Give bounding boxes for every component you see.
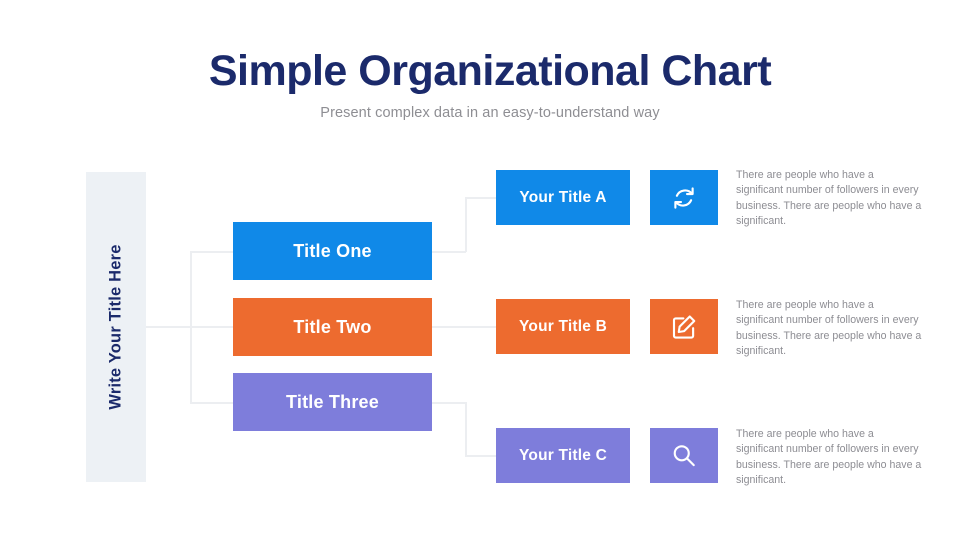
node-title-two[interactable]: Title Two [233,298,432,356]
refresh-sync-icon [669,183,699,213]
description-a: There are people who have a significant … [736,168,922,229]
search-magnifier-icon [669,441,699,471]
description-c: There are people who have a significant … [736,427,922,488]
description-b: There are people who have a significant … [736,298,922,359]
edit-square-pencil-icon [669,312,699,342]
page-title: Simple Organizational Chart [0,48,980,94]
node-title-two-label: Title Two [293,317,371,338]
icon-tile-c[interactable] [650,428,718,483]
side-title-panel-label: Write Your Title Here [107,244,126,409]
node-your-title-a-label: Your Title A [519,189,606,207]
organizational-chart-slide: Simple Organizational Chart Present comp… [0,0,980,551]
connector-branch-title-three [190,402,234,404]
node-title-one-label: Title One [293,241,372,262]
slide-header: Simple Organizational Chart Present comp… [0,48,980,121]
connector-branch-title-one [190,251,234,253]
node-your-title-b-label: Your Title B [519,318,607,336]
connector-three-to-c-h1 [431,402,466,404]
icon-tile-b[interactable] [650,299,718,354]
connector-three-to-c-h2 [465,455,497,457]
node-title-three[interactable]: Title Three [233,373,432,431]
connector-one-to-a-h2 [465,197,497,199]
connector-branch-title-two [190,326,234,328]
node-your-title-c[interactable]: Your Title C [496,428,630,483]
connector-root-stub [146,326,191,328]
connector-two-to-b [431,326,497,328]
connector-three-to-c-v [465,402,467,456]
connector-one-to-a-v [465,197,467,252]
icon-tile-a[interactable] [650,170,718,225]
node-your-title-c-label: Your Title C [519,447,607,465]
node-title-one[interactable]: Title One [233,222,432,280]
side-title-panel[interactable]: Write Your Title Here [86,172,146,482]
connector-one-to-a-h1 [431,251,466,253]
node-your-title-a[interactable]: Your Title A [496,170,630,225]
node-title-three-label: Title Three [286,392,379,413]
page-subtitle: Present complex data in an easy-to-under… [0,105,980,121]
node-your-title-b[interactable]: Your Title B [496,299,630,354]
